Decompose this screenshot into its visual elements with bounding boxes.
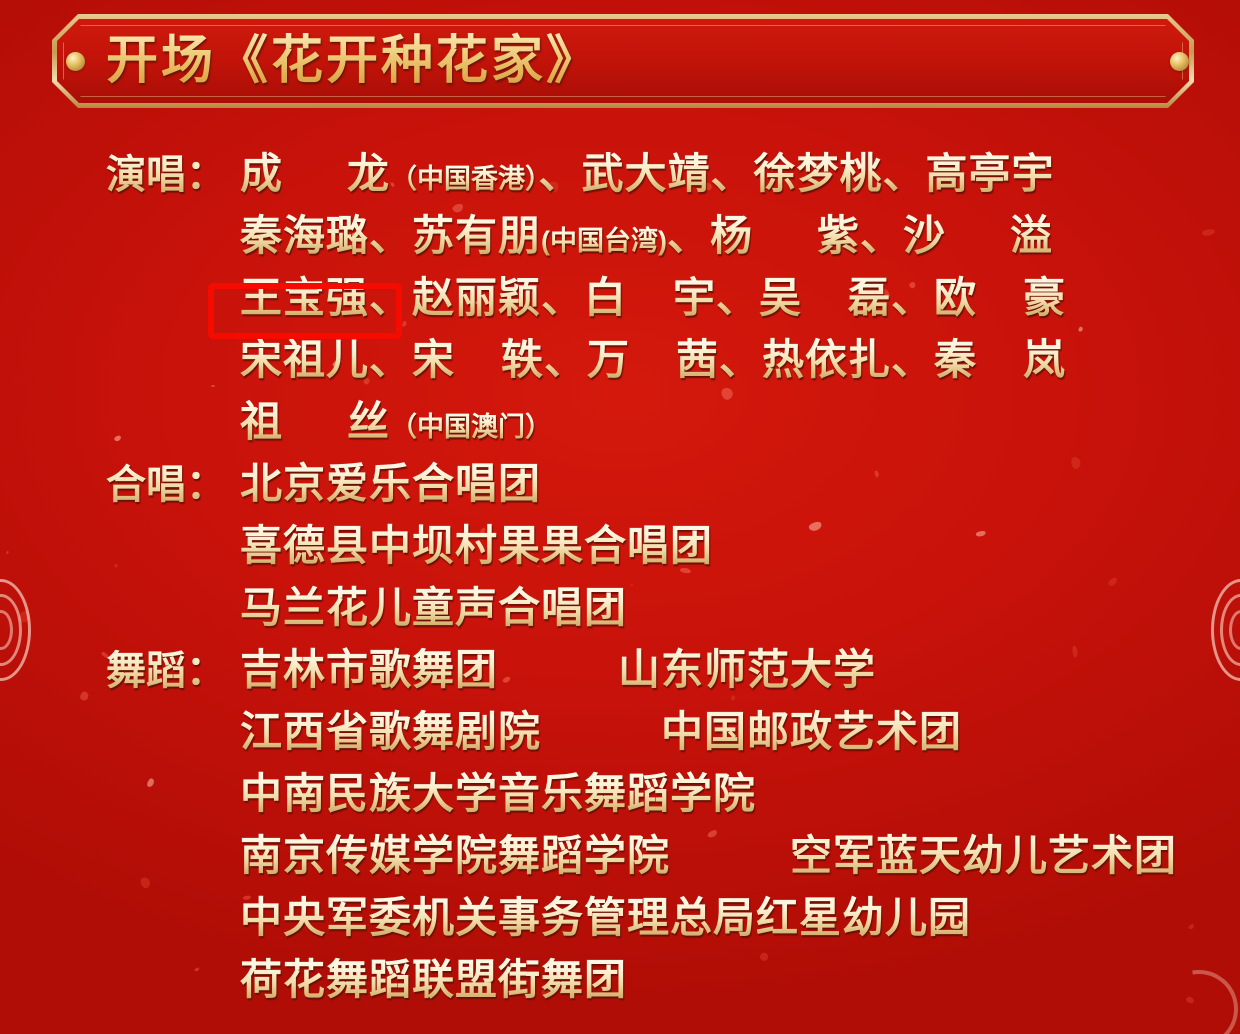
entry-region-note: （中国香港）: [390, 164, 539, 194]
program-row: 演唱：成龙（中国香港）、武大靖、徐梦桃、高亭宇: [0, 140, 1240, 202]
entry-name: 马兰花儿童声合唱团: [240, 584, 627, 631]
entry-region-note: （中国澳门）: [390, 412, 552, 442]
entry-name: 祖: [240, 398, 283, 445]
program-row: 合唱：北京爱乐合唱团: [0, 450, 1240, 512]
entry-name: 秦海璐、苏有朋: [240, 212, 541, 259]
program-entry: 马兰花儿童声合唱团: [240, 574, 627, 635]
entry-name: 磊、欧: [848, 274, 977, 321]
program-entry: 宋祖儿、宋轶、万茜、热依扎、秦岚: [240, 326, 1066, 387]
entry-name: 中央军委机关事务管理总局红星幼儿园: [240, 894, 971, 941]
role-label: 演唱：: [106, 142, 240, 200]
program-entry: 中南民族大学音乐舞蹈学院: [240, 760, 756, 821]
program-entry: 北京爱乐合唱团: [240, 450, 541, 511]
program-entry: 王宝强、赵丽颖、白宇、吴磊、欧豪: [240, 264, 1066, 325]
entry-name: 宋祖儿、宋: [240, 336, 455, 383]
program-entry: 中央军委机关事务管理总局红星幼儿园: [240, 884, 971, 945]
program-entry: 荷花舞蹈联盟街舞团: [240, 946, 627, 1007]
program-entry-column2: 空军蓝天幼儿艺术团: [790, 822, 1177, 883]
page-title: 开场《花开种花家》: [106, 27, 601, 95]
program-row: 演唱：王宝强、赵丽颖、白宇、吴磊、欧豪: [0, 264, 1240, 326]
program-entry-column2: 山东师范大学: [618, 636, 876, 697]
entry-name: 龙: [347, 150, 390, 197]
entry-name: 茜、热依扎、秦: [676, 336, 977, 383]
role-label: 合唱：: [106, 452, 240, 510]
entry-name: 北京爱乐合唱团: [240, 460, 541, 507]
program-row: 舞蹈：江西省歌舞剧院中国邮政艺术团: [0, 698, 1240, 760]
entry-name: 吉林市歌舞团: [240, 646, 498, 693]
entry-name: 、杨: [667, 212, 753, 259]
entry-name: 、武大靖、徐梦桃、高亭宇: [539, 150, 1055, 197]
entry-name: 紫、沙: [817, 212, 946, 259]
entry-name: 南京传媒学院舞蹈学院: [240, 832, 670, 879]
program-entry: 祖丝（中国澳门）: [240, 388, 552, 449]
program-list-screen: 开场《花开种花家》 演唱：成龙（中国香港）、武大靖、徐梦桃、高亭宇演唱：秦海璐、…: [0, 0, 1240, 1034]
program-row: 合唱：喜德县中坝村果果合唱团: [0, 512, 1240, 574]
program-entry: 成龙（中国香港）、武大靖、徐梦桃、高亭宇: [240, 140, 1055, 201]
entry-name: 成: [240, 150, 283, 197]
entry-name: 荷花舞蹈联盟街舞团: [240, 956, 627, 1003]
entry-name: 岚: [1023, 336, 1066, 383]
plaque-stud-right-icon: [1170, 52, 1189, 71]
program-entry: 喜德县中坝村果果合唱团: [240, 512, 713, 573]
entry-name: 江西省歌舞剧院: [240, 708, 541, 755]
program-row: 演唱：宋祖儿、宋轶、万茜、热依扎、秦岚: [0, 326, 1240, 388]
program-row: 舞蹈：吉林市歌舞团山东师范大学: [0, 636, 1240, 698]
program-entry: 江西省歌舞剧院: [240, 698, 541, 759]
program-row: 演唱：祖丝（中国澳门）: [0, 388, 1240, 450]
program-row: 合唱：马兰花儿童声合唱团: [0, 574, 1240, 636]
plaque-stud-left-icon: [66, 52, 85, 71]
program-body: 演唱：成龙（中国香港）、武大靖、徐梦桃、高亭宇演唱：秦海璐、苏有朋(中国台湾)、…: [0, 140, 1240, 1008]
entry-name: 豪: [1023, 274, 1066, 321]
entry-region-note: (中国台湾): [541, 226, 667, 256]
program-row: 舞蹈：中央军委机关事务管理总局红星幼儿园: [0, 884, 1240, 946]
program-entry: 秦海璐、苏有朋(中国台湾)、杨紫、沙溢: [240, 202, 1053, 263]
entry-name: 轶、万: [501, 336, 630, 383]
program-entry-column2: 中国邮政艺术团: [661, 698, 962, 759]
entry-name: 喜德县中坝村果果合唱团: [240, 522, 713, 569]
entry-name: 宇、吴: [673, 274, 802, 321]
program-row: 舞蹈：南京传媒学院舞蹈学院空军蓝天幼儿艺术团: [0, 822, 1240, 884]
entry-name: 丝: [347, 398, 390, 445]
entry-name: 溢: [1010, 212, 1053, 259]
program-entry: 南京传媒学院舞蹈学院: [240, 822, 670, 883]
program-entry: 吉林市歌舞团: [240, 636, 498, 697]
role-label: 舞蹈：: [106, 638, 240, 696]
program-row: 舞蹈：荷花舞蹈联盟街舞团: [0, 946, 1240, 1008]
program-row: 演唱：秦海璐、苏有朋(中国台湾)、杨紫、沙溢: [0, 202, 1240, 264]
program-row: 舞蹈：中南民族大学音乐舞蹈学院: [0, 760, 1240, 822]
entry-name: 中南民族大学音乐舞蹈学院: [240, 770, 756, 817]
entry-name: 王宝强、赵丽颖、白: [240, 274, 627, 321]
